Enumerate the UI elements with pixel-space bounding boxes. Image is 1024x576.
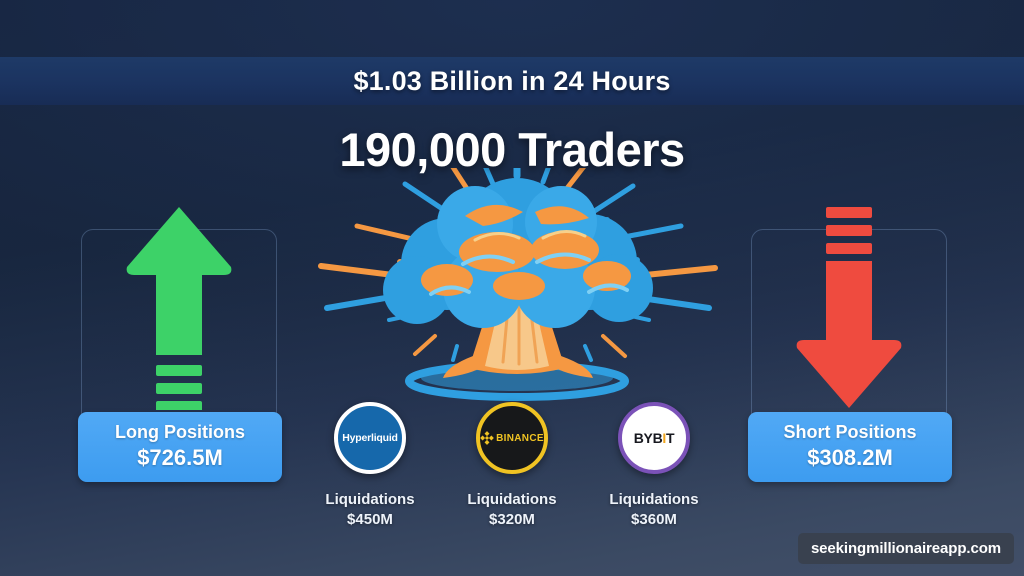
short-positions-value: $308.2M <box>748 444 952 472</box>
bybit-logo-text-b: T <box>666 430 674 446</box>
binance-diamond-icon <box>480 431 494 445</box>
infographic-canvas: $1.03 Billion in 24 Hours 190,000 Trader… <box>0 0 1024 576</box>
hyperliquid-logo-icon: Hyperliquid <box>334 402 406 474</box>
binance-amount: $320M <box>467 510 556 530</box>
arrow-up-icon <box>124 205 234 410</box>
exchange-binance: BINANCE Liquidations $320M <box>452 402 572 531</box>
watermark: seekingmillionaireapp.com <box>798 533 1014 564</box>
header-banner-text: $1.03 Billion in 24 Hours <box>353 66 670 97</box>
long-positions-label: Long Positions <box>78 421 282 444</box>
hyperliquid-caption: Liquidations $450M <box>325 490 414 531</box>
short-positions-footer: Short Positions $308.2M <box>748 412 952 482</box>
bybit-caption-label: Liquidations <box>609 491 698 508</box>
exchange-bybit: BYBIT Liquidations $360M <box>594 402 714 531</box>
short-positions-label: Short Positions <box>748 421 952 444</box>
exchange-badges: Hyperliquid Liquidations $450M <box>310 402 714 531</box>
hyperliquid-amount: $450M <box>325 510 414 530</box>
long-positions-card: Long Positions $726.5M <box>81 229 277 475</box>
long-positions-footer: Long Positions $726.5M <box>78 412 282 482</box>
long-positions-value: $726.5M <box>78 444 282 472</box>
hyperliquid-caption-label: Liquidations <box>325 491 414 508</box>
short-positions-card: Short Positions $308.2M <box>751 229 947 475</box>
exchange-hyperliquid: Hyperliquid Liquidations $450M <box>310 402 430 531</box>
explosion-illustration <box>297 168 737 413</box>
binance-logo-icon: BINANCE <box>476 402 548 474</box>
binance-logo-text: BINANCE <box>496 433 544 444</box>
bybit-logo-text-a: BYB <box>634 430 663 446</box>
bybit-logo-icon: BYBIT <box>618 402 690 474</box>
header-banner: $1.03 Billion in 24 Hours <box>0 57 1024 105</box>
bybit-amount: $360M <box>609 510 698 530</box>
bybit-caption: Liquidations $360M <box>609 490 698 531</box>
hyperliquid-logo-text: Hyperliquid <box>342 432 398 444</box>
page-title: 190,000 Traders <box>0 122 1024 177</box>
arrow-down-icon <box>794 205 904 410</box>
binance-caption: Liquidations $320M <box>467 490 556 531</box>
binance-caption-label: Liquidations <box>467 491 556 508</box>
